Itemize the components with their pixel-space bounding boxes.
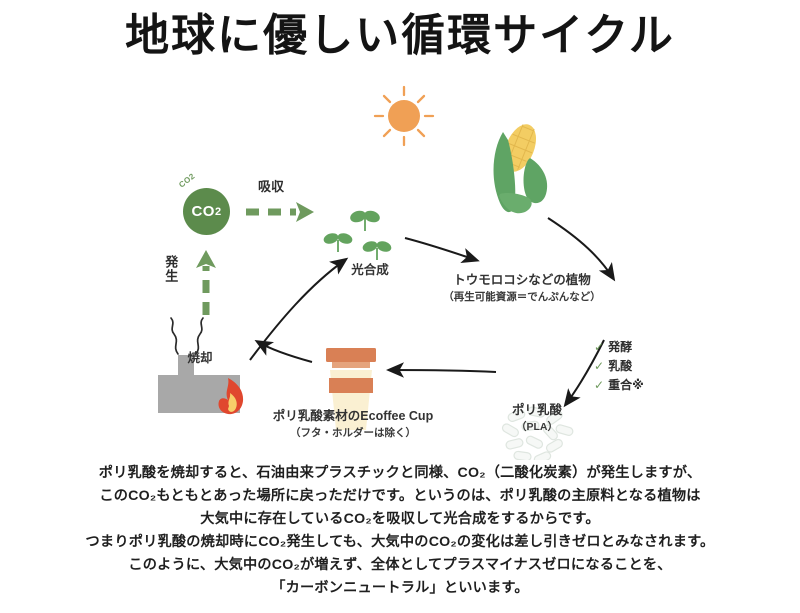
checklist-label-lactic-acid: 乳酸 xyxy=(608,359,632,373)
node-label-cup-main: ポリ乳酸素材のEcoffee Cup xyxy=(273,409,433,423)
node-label-pla-main: ポリ乳酸 xyxy=(512,403,562,417)
body-line-4: つまりポリ乳酸の焼却時にCO₂発生しても、大気中のCO₂の変化は差し引きゼロとみ… xyxy=(0,531,800,554)
check-icon: ✓ xyxy=(594,378,604,392)
body-line-6: 「カーボンニュートラル」といいます。 xyxy=(0,577,800,600)
sun-icon xyxy=(375,87,433,145)
arrow-cup-to-incineration xyxy=(258,342,312,362)
co2-circle-icon: CO2 xyxy=(183,188,230,235)
node-label-corn-sub: （再生可能資源＝でんぷんなど） xyxy=(422,290,622,304)
checklist-label-fermentation: 発酵 xyxy=(608,340,632,354)
co2-label: CO xyxy=(191,203,215,220)
body-line-1: ポリ乳酸を焼却すると、石油由来プラスチックと同様、CO₂（二酸化炭素）が発生しま… xyxy=(0,462,800,485)
carbon-cycle-diagram: CO2 CO2 吸収 発生 光合成 トウモロコシなどの植物 （再生可能資源＝でん… xyxy=(0,70,800,460)
absorption-arrow xyxy=(246,202,314,222)
node-label-cup: ポリ乳酸素材のEcoffee Cup （フタ・ホルダーは除く） xyxy=(243,408,463,440)
check-icon: ✓ xyxy=(594,359,604,373)
generation-arrow xyxy=(196,250,216,315)
checklist-item-fermentation: ✓発酵 xyxy=(594,338,644,357)
node-label-photosynthesis: 光合成 xyxy=(320,262,420,279)
page-title: 地球に優しい循環サイクル xyxy=(0,8,800,63)
absorption-label: 吸収 xyxy=(258,176,284,195)
corn-icon xyxy=(494,120,548,214)
node-label-pla-sub: （PLA） xyxy=(472,420,602,434)
node-label-incineration: 焼却 xyxy=(152,350,248,367)
body-line-5: このように、大気中のCO₂が増えず、全体としてプラスマイナスゼロになることを、 xyxy=(0,554,800,577)
node-label-cup-sub: （フタ・ホルダーは除く） xyxy=(243,426,463,440)
arrow-photosynthesis-to-corn xyxy=(405,238,476,260)
check-icon: ✓ xyxy=(594,340,604,354)
sprout-icon xyxy=(322,209,392,260)
arrow-corn-to-process xyxy=(548,218,613,278)
body-text: ポリ乳酸を焼却すると、石油由来プラスチックと同様、CO₂（二酸化炭素）が発生しま… xyxy=(0,462,800,600)
body-line-3: 大気中に存在しているCO₂を吸収して光合成をするからです。 xyxy=(0,508,800,531)
node-label-corn-main: トウモロコシなどの植物 xyxy=(453,273,591,287)
node-label-pla: ポリ乳酸 （PLA） xyxy=(472,402,602,434)
node-label-corn: トウモロコシなどの植物 （再生可能資源＝でんぷんなど） xyxy=(422,272,622,304)
checklist-item-lactic-acid: ✓乳酸 xyxy=(594,357,644,376)
checklist-label-polymerization: 重合※ xyxy=(608,378,644,392)
generation-label: 発生 xyxy=(163,255,177,283)
co2-subscript: 2 xyxy=(215,206,222,218)
arrow-pla-to-cup xyxy=(390,370,496,372)
body-line-2: このCO₂もともとあった場所に戻っただけです。というのは、ポリ乳酸の主原料となる… xyxy=(0,485,800,508)
process-checklist: ✓発酵 ✓乳酸 ✓重合※ xyxy=(594,338,644,395)
checklist-item-polymerization: ✓重合※ xyxy=(594,376,644,395)
